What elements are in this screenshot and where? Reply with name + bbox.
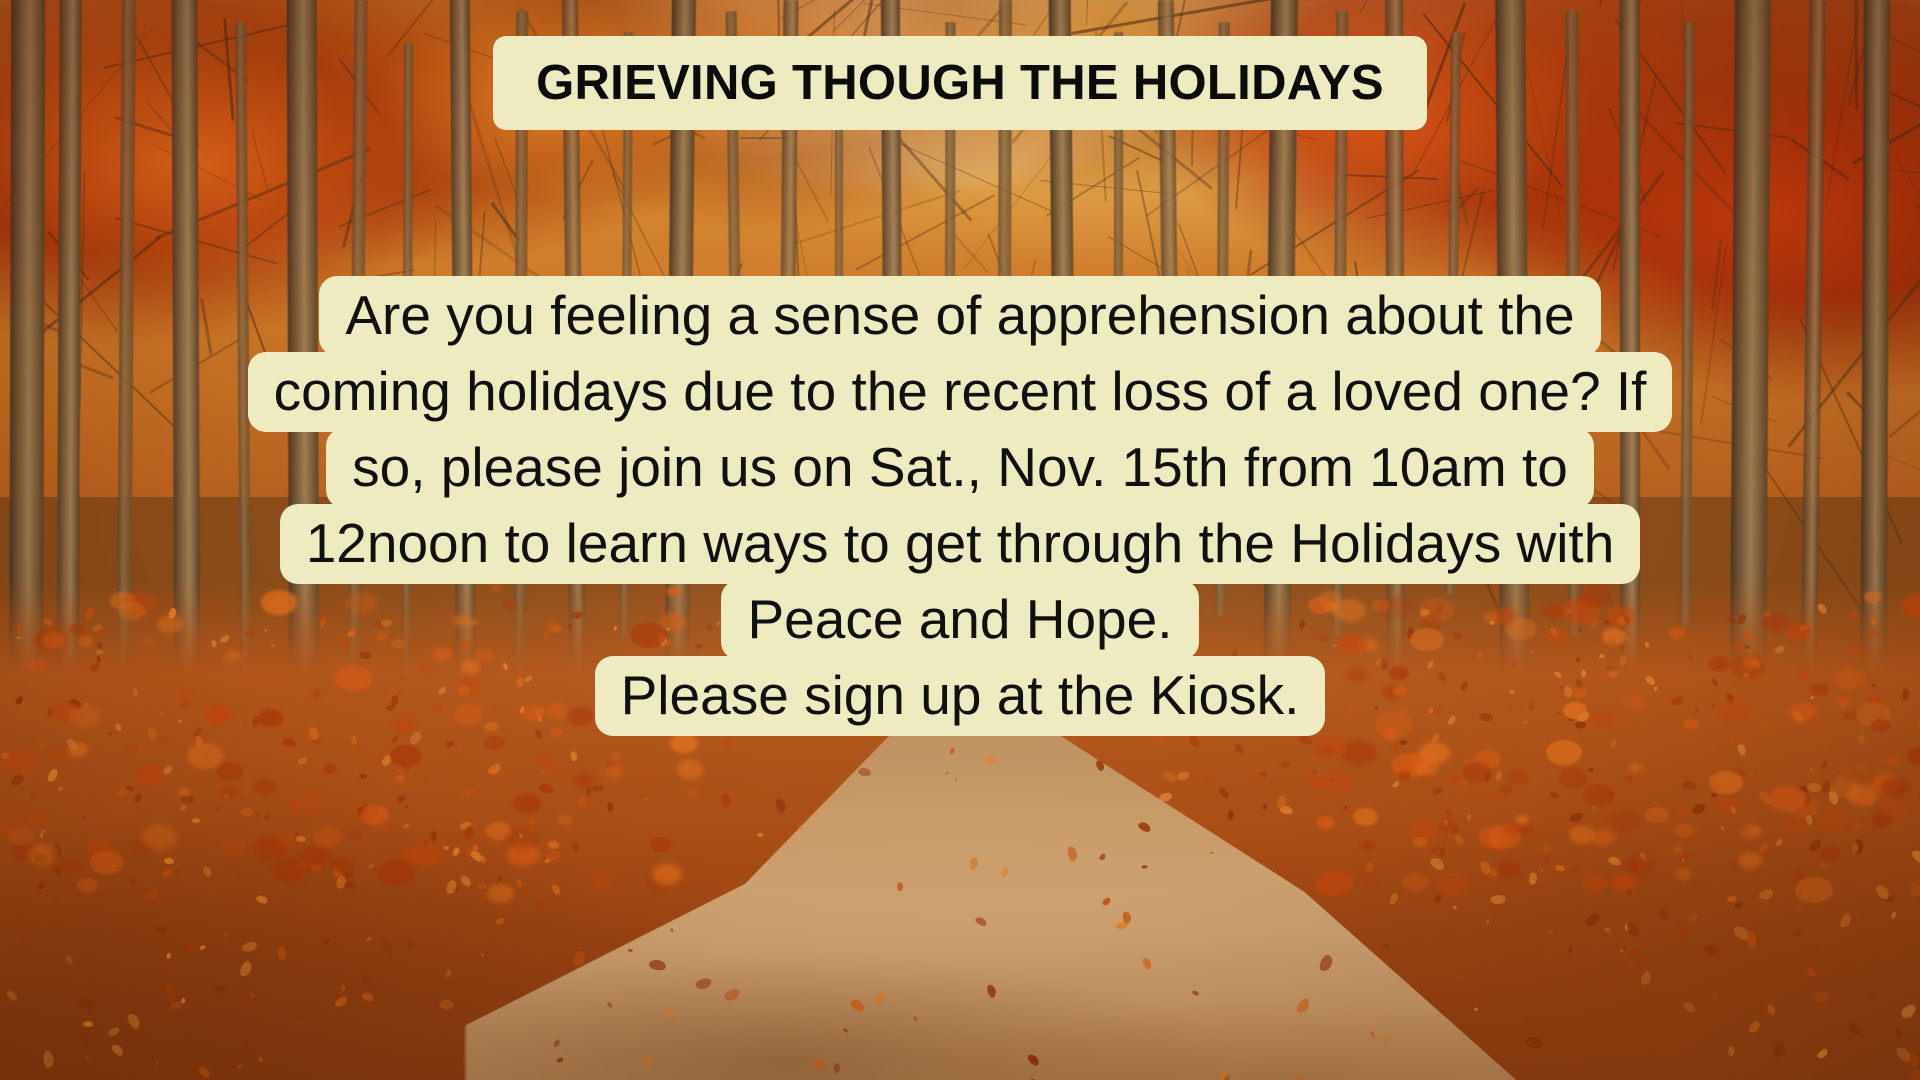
poster-canvas: GRIEVING THOUGH THE HOLIDAYS Are you fee… (0, 0, 1920, 1080)
body-line: coming holidays due to the recent loss o… (248, 352, 1673, 432)
title-banner: GRIEVING THOUGH THE HOLIDAYS (0, 36, 1920, 130)
body-line: 12noon to learn ways to get through the … (280, 504, 1641, 584)
body-line: Peace and Hope. (721, 580, 1198, 660)
body-line: Are you feeling a sense of apprehension … (319, 276, 1600, 356)
poster-title: GRIEVING THOUGH THE HOLIDAYS (493, 36, 1427, 130)
body-line: so, please join us on Sat., Nov. 15th fr… (326, 428, 1594, 508)
body-line: Please sign up at the Kiosk. (595, 656, 1326, 736)
poster-body: Are you feeling a sense of apprehension … (0, 276, 1920, 732)
text-overlay: GRIEVING THOUGH THE HOLIDAYS Are you fee… (0, 0, 1920, 1080)
